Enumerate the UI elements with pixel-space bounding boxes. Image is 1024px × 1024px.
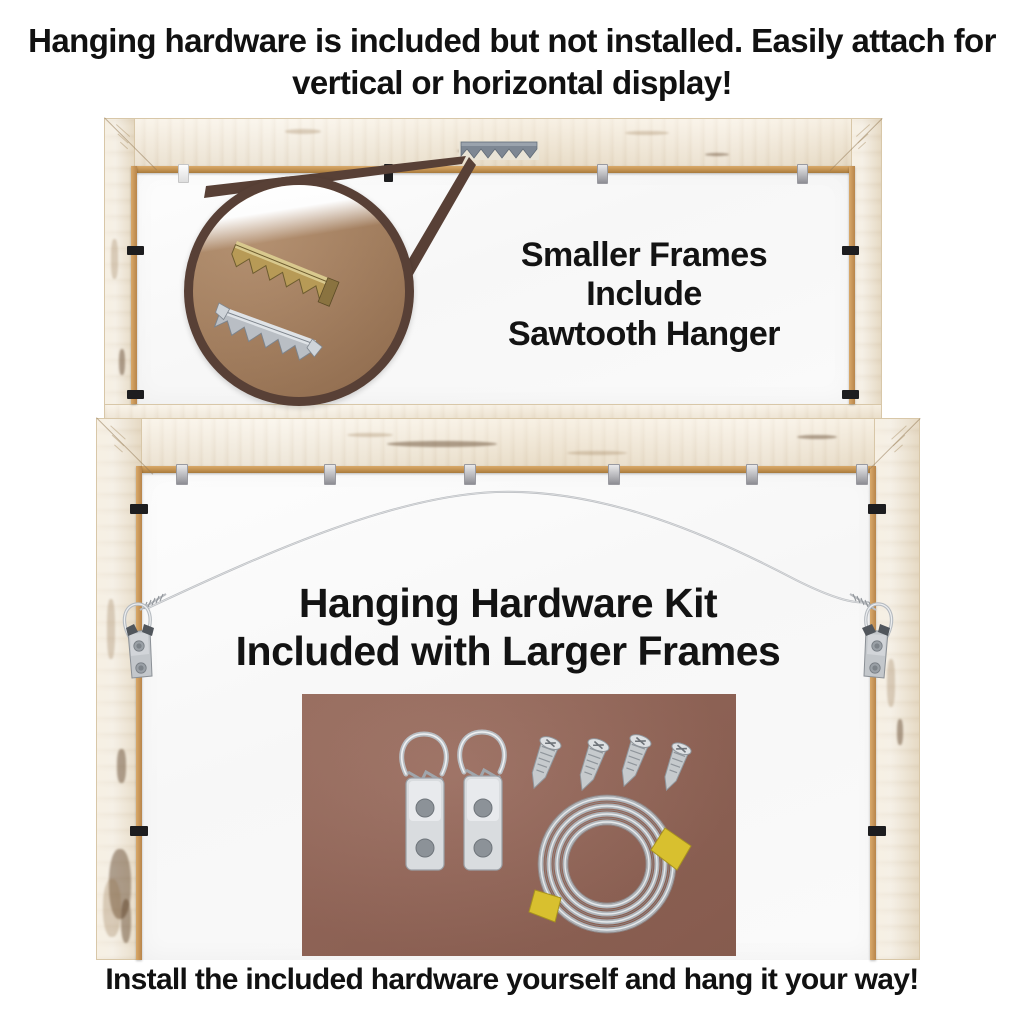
magnifier-disc <box>184 176 414 406</box>
large-frame-caption-line-1: Hanging Hardware Kit <box>148 580 868 628</box>
backing-clip <box>597 164 608 184</box>
small-frame-caption-line-3: Sawtooth Hanger <box>434 315 854 354</box>
small-frame-inner-lip-left <box>131 166 137 404</box>
footer-text: Install the included hardware yourself a… <box>105 963 918 996</box>
backing-clip <box>127 246 144 255</box>
large-picture-frame-back: Hanging Hardware Kit Included with Large… <box>96 418 920 960</box>
backing-clip <box>842 390 859 399</box>
small-frame-corner-mark-left <box>112 126 138 152</box>
backing-clip <box>797 164 808 184</box>
small-frame-caption: Smaller Frames Include Sawtooth Hanger <box>434 236 854 354</box>
sawtooth-hanger-magnifier <box>170 140 490 402</box>
small-frame-right-rail <box>851 118 882 426</box>
small-frame-corner-mark-right <box>848 126 874 152</box>
large-frame-caption-line-2: Included with Larger Frames <box>148 628 868 676</box>
footer-caption: Install the included hardware yourself a… <box>0 962 1024 998</box>
hanging-hardware-kit-photo <box>302 694 736 956</box>
small-frame-caption-line-2: Include <box>434 275 854 314</box>
large-frame-caption: Hanging Hardware Kit Included with Large… <box>148 580 868 675</box>
infographic-canvas: Hanging hardware is included but not ins… <box>0 0 1024 1024</box>
headline: Hanging hardware is included but not ins… <box>0 20 1024 104</box>
headline-line-1: Hanging hardware is included but not ins… <box>28 22 843 59</box>
small-frame-caption-line-1: Smaller Frames <box>434 236 854 275</box>
backing-clip <box>127 390 144 399</box>
